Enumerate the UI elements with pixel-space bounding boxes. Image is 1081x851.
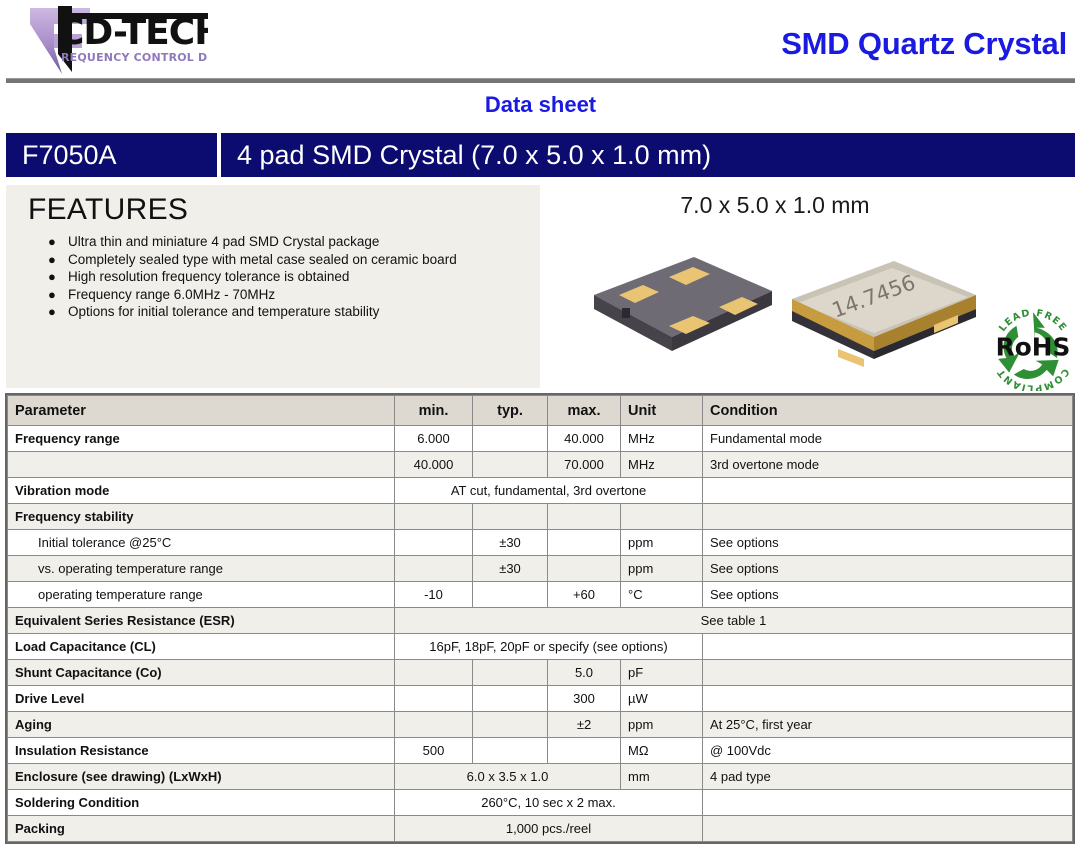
feature-text: Options for initial tolerance and temper… (68, 304, 379, 319)
features-list: ●Ultra thin and miniature 4 pad SMD Crys… (20, 233, 540, 321)
bullet-icon: ● (48, 233, 56, 251)
cell-min: -10 (395, 582, 473, 608)
cell-condition (703, 660, 1073, 686)
page-title: SMD Quartz Crystal (781, 26, 1067, 62)
table-row: Insulation Resistance500MΩ@ 100Vdc (8, 738, 1073, 764)
table-row: Packing1,000 pcs./reel (8, 816, 1073, 842)
cell-max (548, 504, 621, 530)
rohs-top-arc-label: LEAD FREE (997, 308, 1069, 334)
feature-item: ●Ultra thin and miniature 4 pad SMD Crys… (20, 233, 540, 251)
cell-unit: ppm (621, 530, 703, 556)
rohs-bottom-arc-label: COMPLIANT (995, 366, 1071, 391)
cell-condition: See options (703, 556, 1073, 582)
cell-min: 500 (395, 738, 473, 764)
part-number-badge: F7050A (6, 133, 217, 177)
crystal-photo: 14.7456 (576, 233, 996, 383)
table-row: Soldering Condition260°C, 10 sec x 2 max… (8, 790, 1073, 816)
cell-unit: mm (621, 764, 703, 790)
bullet-icon: ● (48, 286, 56, 304)
table-header-row: Parameter min. typ. max. Unit Condition (8, 396, 1073, 426)
cell-parameter: vs. operating temperature range (8, 556, 395, 582)
cell-parameter: Soldering Condition (8, 790, 395, 816)
rohs-compliant-icon: RoHS LEAD FREE COMPLIANT (987, 303, 1079, 391)
company-logo: CD-TECH REQUENCY CONTROL DEVICES (28, 4, 208, 76)
cell-typ (473, 686, 548, 712)
page-header: CD-TECH REQUENCY CONTROL DEVICES SMD Qua… (0, 0, 1081, 86)
cell-max: +60 (548, 582, 621, 608)
cell-parameter: Load Capacitance (CL) (8, 634, 395, 660)
cell-merged-value: 6.0 x 3.5 x 1.0 (395, 764, 621, 790)
cell-unit: µW (621, 686, 703, 712)
cell-condition: At 25°C, first year (703, 712, 1073, 738)
specifications-table: Parameter min. typ. max. Unit Condition … (5, 393, 1075, 844)
cell-parameter (8, 452, 395, 478)
feature-item: ●Frequency range 6.0MHz - 70MHz (20, 286, 540, 304)
cell-parameter: Equivalent Series Resistance (ESR) (8, 608, 395, 634)
table-row: Enclosure (see drawing) (LxWxH)6.0 x 3.5… (8, 764, 1073, 790)
header-divider (6, 78, 1075, 83)
cell-min (395, 712, 473, 738)
cell-min (395, 504, 473, 530)
cell-max (548, 556, 621, 582)
bullet-icon: ● (48, 303, 56, 321)
feature-text: Ultra thin and miniature 4 pad SMD Cryst… (68, 234, 379, 249)
cell-condition (703, 816, 1073, 842)
table-row: Vibration modeAT cut, fundamental, 3rd o… (8, 478, 1073, 504)
col-unit: Unit (621, 396, 703, 426)
cell-min (395, 686, 473, 712)
cell-condition (703, 790, 1073, 816)
feature-text: Completely sealed type with metal case s… (68, 252, 457, 267)
cell-parameter: Frequency range (8, 426, 395, 452)
cell-typ (473, 452, 548, 478)
cell-max: 5.0 (548, 660, 621, 686)
table-row: Frequency stability (8, 504, 1073, 530)
features-panel: FEATURES ●Ultra thin and miniature 4 pad… (6, 185, 540, 388)
cell-merged-value: 1,000 pcs./reel (395, 816, 703, 842)
cell-parameter: Initial tolerance @25°C (8, 530, 395, 556)
svg-text:REQUENCY CONTROL DEVICES: REQUENCY CONTROL DEVICES (61, 51, 208, 64)
table-row: Frequency range6.00040.000MHzFundamental… (8, 426, 1073, 452)
cell-max: 300 (548, 686, 621, 712)
crystal-top-view: 14.7456 (792, 261, 976, 367)
cell-unit: MΩ (621, 738, 703, 764)
cell-max: ±2 (548, 712, 621, 738)
table-row: Shunt Capacitance (Co)5.0pF (8, 660, 1073, 686)
package-dimension-label: 7.0 x 5.0 x 1.0 mm (540, 192, 1010, 219)
feature-text: High resolution frequency tolerance is o… (68, 269, 349, 284)
cell-condition (703, 686, 1073, 712)
table-row: operating temperature range-10+60°CSee o… (8, 582, 1073, 608)
rohs-label: RoHS (996, 332, 1071, 361)
col-typ: typ. (473, 396, 548, 426)
crystal-bottom-view (594, 257, 772, 351)
cell-min (395, 556, 473, 582)
cell-parameter: Insulation Resistance (8, 738, 395, 764)
cell-condition (703, 504, 1073, 530)
cell-condition: Fundamental mode (703, 426, 1073, 452)
cell-merged-value: 260°C, 10 sec x 2 max. (395, 790, 703, 816)
feature-item: ●High resolution frequency tolerance is … (20, 268, 540, 286)
cell-condition: 3rd overtone mode (703, 452, 1073, 478)
datasheet-subtitle: Data sheet (0, 92, 1081, 118)
cell-max (548, 738, 621, 764)
feature-item: ●Options for initial tolerance and tempe… (20, 303, 540, 321)
features-heading: FEATURES (28, 193, 540, 227)
cell-min (395, 660, 473, 686)
table-row: Drive Level300µW (8, 686, 1073, 712)
cell-condition: 4 pad type (703, 764, 1073, 790)
cell-unit: MHz (621, 426, 703, 452)
table-row: vs. operating temperature range±30ppmSee… (8, 556, 1073, 582)
cell-parameter: Enclosure (see drawing) (LxWxH) (8, 764, 395, 790)
cell-max (548, 530, 621, 556)
cell-unit: pF (621, 660, 703, 686)
cell-min: 6.000 (395, 426, 473, 452)
cell-typ (473, 738, 548, 764)
cell-unit (621, 504, 703, 530)
cell-parameter: Packing (8, 816, 395, 842)
cell-unit: ppm (621, 712, 703, 738)
cell-typ: ±30 (473, 530, 548, 556)
col-max: max. (548, 396, 621, 426)
product-description: 4 pad SMD Crystal (7.0 x 5.0 x 1.0 mm) (221, 133, 1075, 177)
cell-parameter: Drive Level (8, 686, 395, 712)
cell-parameter: Shunt Capacitance (Co) (8, 660, 395, 686)
bullet-icon: ● (48, 268, 56, 286)
table-row: Initial tolerance @25°C±30ppmSee options (8, 530, 1073, 556)
cell-condition: See options (703, 582, 1073, 608)
cell-parameter: Aging (8, 712, 395, 738)
cell-max: 70.000 (548, 452, 621, 478)
col-parameter: Parameter (8, 396, 395, 426)
cell-condition: @ 100Vdc (703, 738, 1073, 764)
cell-merged-value: 16pF, 18pF, 20pF or specify (see options… (395, 634, 703, 660)
feature-text: Frequency range 6.0MHz - 70MHz (68, 287, 275, 302)
product-banner: F7050A 4 pad SMD Crystal (7.0 x 5.0 x 1.… (6, 133, 1075, 177)
cell-unit: ppm (621, 556, 703, 582)
cell-typ (473, 582, 548, 608)
cell-condition (703, 634, 1073, 660)
feature-item: ●Completely sealed type with metal case … (20, 251, 540, 269)
cell-typ (473, 426, 548, 452)
cell-typ (473, 712, 548, 738)
cell-typ (473, 660, 548, 686)
cell-max: 40.000 (548, 426, 621, 452)
cell-min: 40.000 (395, 452, 473, 478)
cell-unit: MHz (621, 452, 703, 478)
cell-condition: See options (703, 530, 1073, 556)
cell-typ (473, 504, 548, 530)
bullet-icon: ● (48, 251, 56, 269)
cell-parameter: Frequency stability (8, 504, 395, 530)
product-image-panel: 7.0 x 5.0 x 1.0 mm 14.7456 (540, 185, 1081, 388)
table-row: Equivalent Series Resistance (ESR)See ta… (8, 608, 1073, 634)
cell-parameter: Vibration mode (8, 478, 395, 504)
col-min: min. (395, 396, 473, 426)
cell-min (395, 530, 473, 556)
cell-merged-value: AT cut, fundamental, 3rd overtone (395, 478, 703, 504)
cell-unit: °C (621, 582, 703, 608)
cell-merged-value: See table 1 (395, 608, 1073, 634)
logo-graphic: CD-TECH REQUENCY CONTROL DEVICES (28, 4, 208, 76)
cell-typ: ±30 (473, 556, 548, 582)
table-body: Frequency range6.00040.000MHzFundamental… (8, 426, 1073, 842)
col-condition: Condition (703, 396, 1073, 426)
cell-condition (703, 478, 1073, 504)
table-row: 40.00070.000MHz3rd overtone mode (8, 452, 1073, 478)
table-row: Aging±2ppmAt 25°C, first year (8, 712, 1073, 738)
table-row: Load Capacitance (CL)16pF, 18pF, 20pF or… (8, 634, 1073, 660)
cell-parameter: operating temperature range (8, 582, 395, 608)
